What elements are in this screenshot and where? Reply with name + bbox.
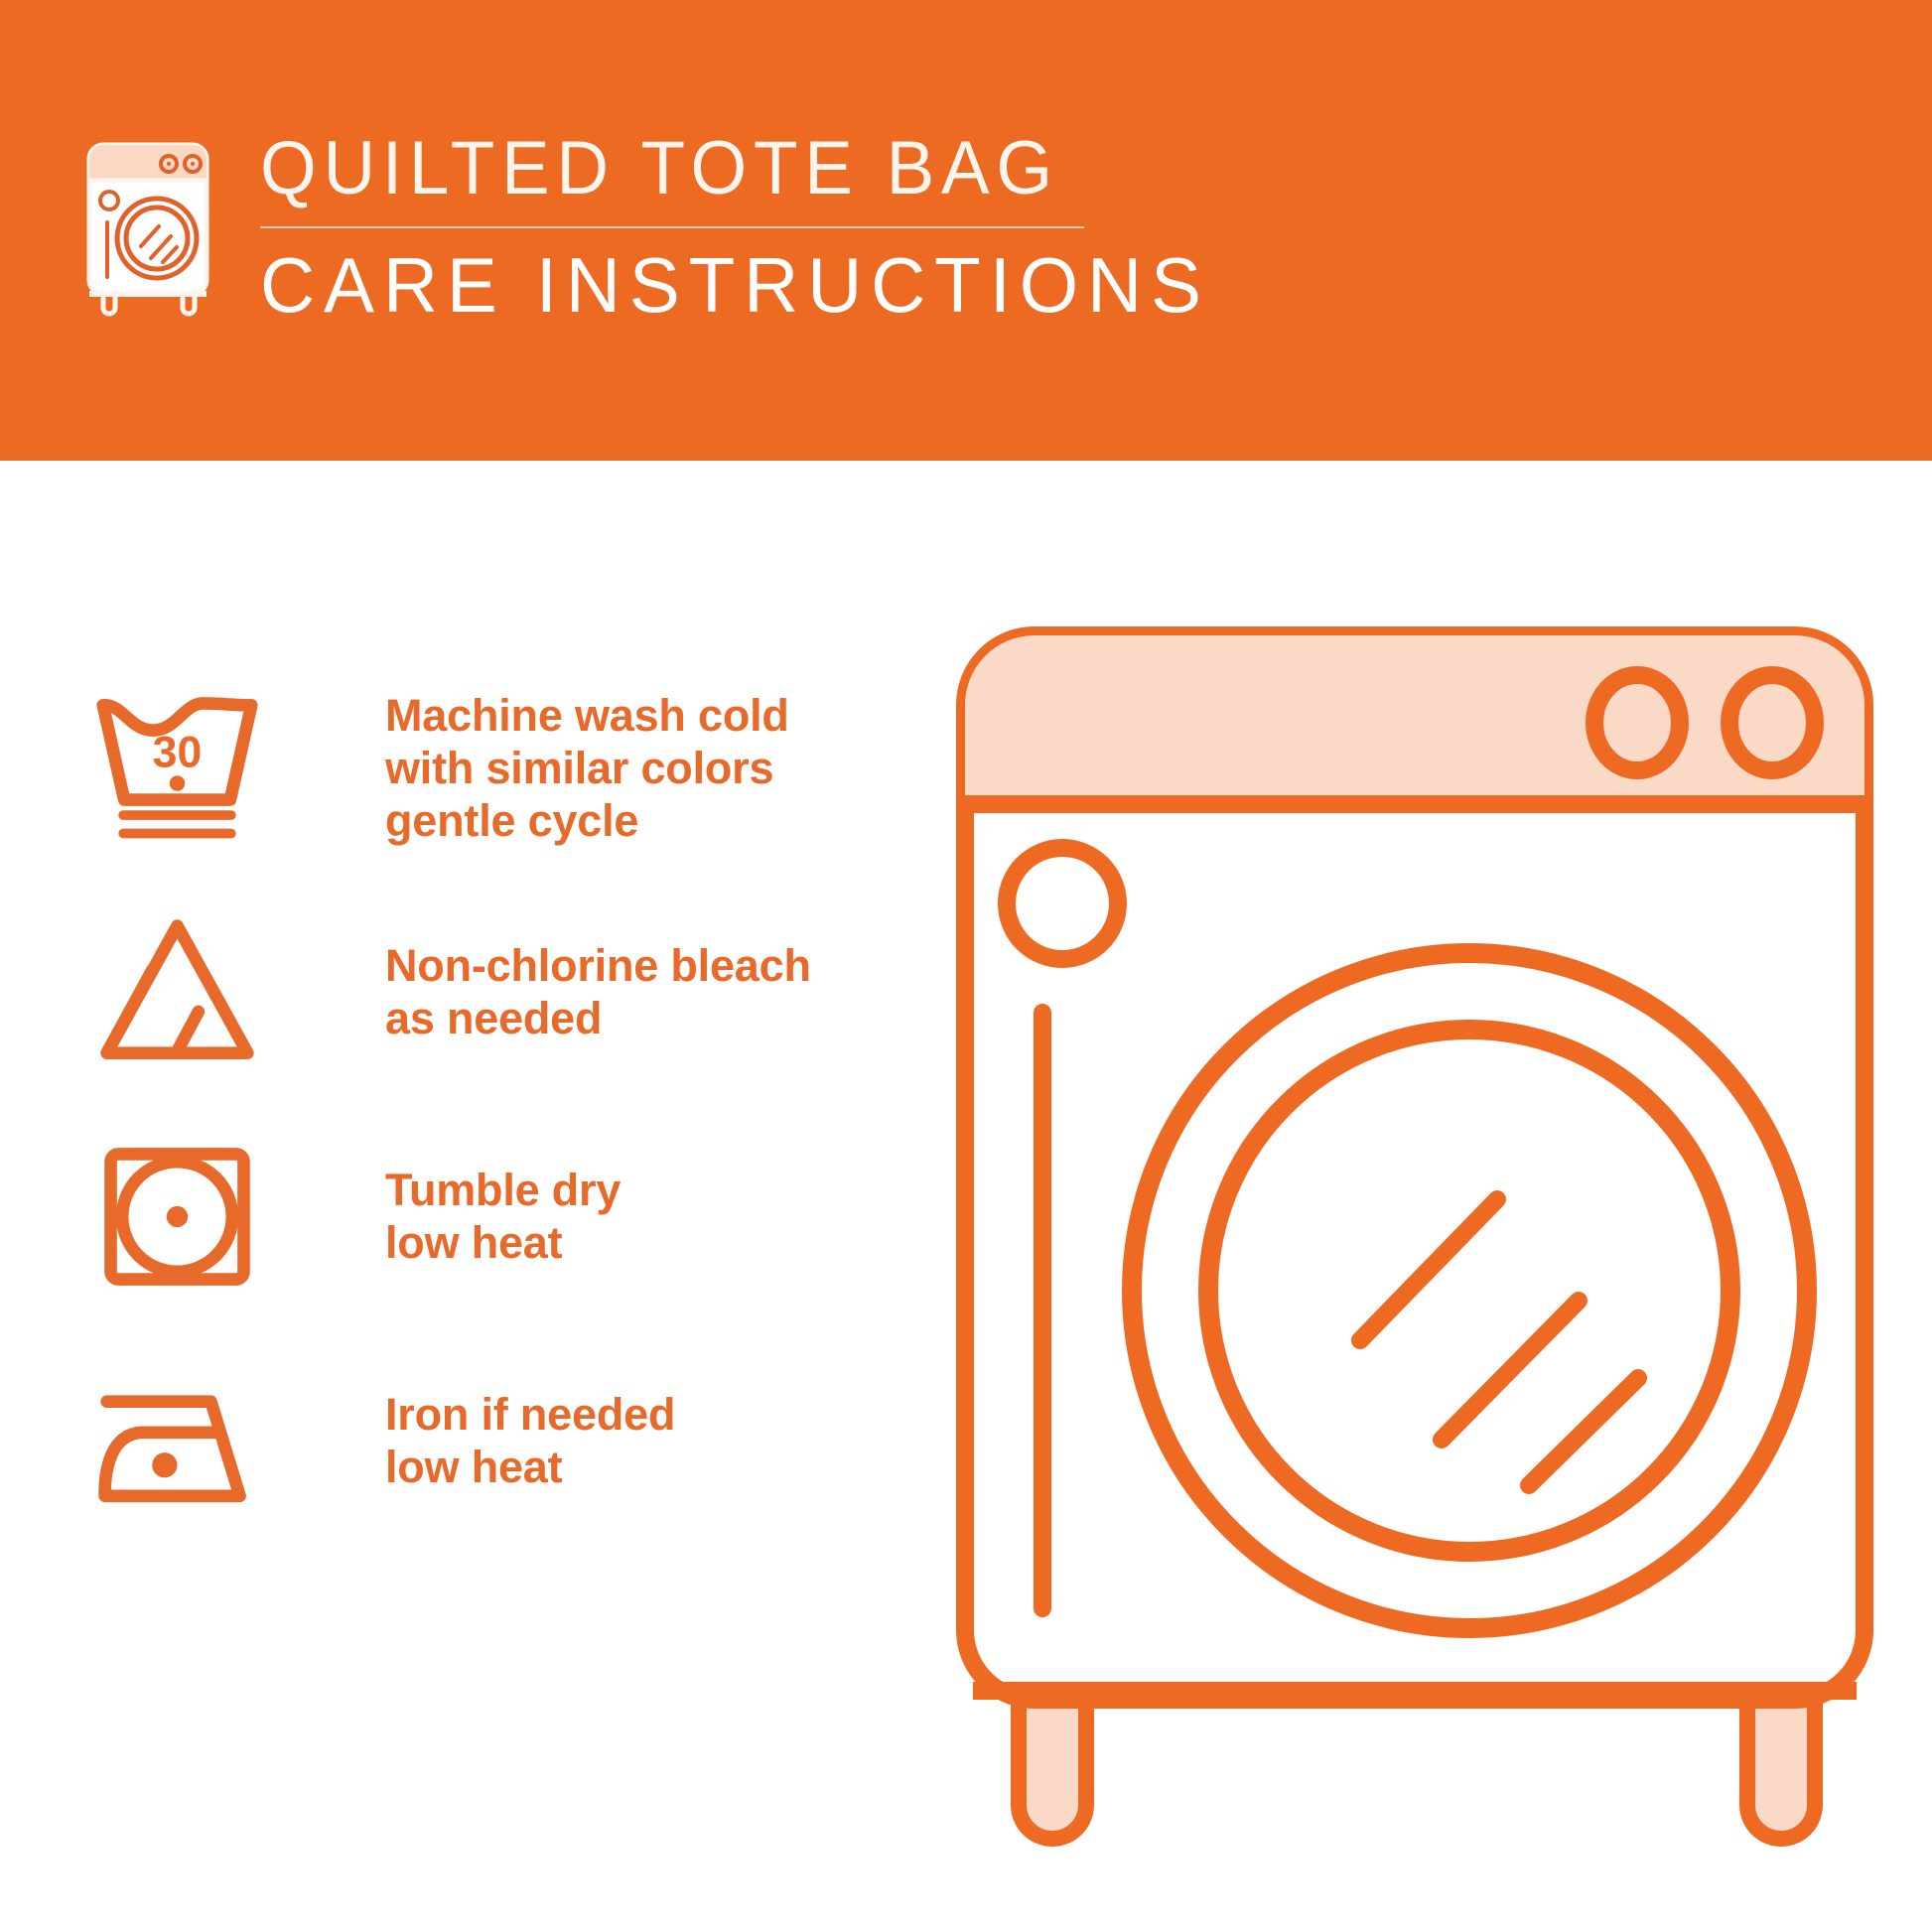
page-title: QUILTED TOTE BAG xyxy=(260,127,1190,210)
care-label-iron: Iron if needed low heat xyxy=(385,1388,675,1493)
wash-heat-dot xyxy=(169,775,185,791)
care-row-tumble-dry: Tumble dry low heat xyxy=(77,1104,892,1328)
care-row-bleach: Non-chlorine bleach as needed xyxy=(77,880,892,1104)
care-row-machine-wash: 30 Machine wash cold with similar colors… xyxy=(77,655,892,880)
machine-wash-tub-icon: 30 xyxy=(77,686,276,850)
non-chlorine-bleach-triangle-icon xyxy=(77,910,276,1074)
header-title-block: QUILTED TOTE BAG CARE INSTRUCTIONS xyxy=(260,127,1229,328)
care-label-machine-wash: Machine wash cold with similar colors ge… xyxy=(385,689,789,847)
washing-machine-illustration xyxy=(953,616,1876,1906)
tumble-heat-dot xyxy=(166,1205,187,1226)
foot-right xyxy=(1747,1696,1815,1839)
knob-left xyxy=(1594,675,1680,770)
page-subtitle: CARE INSTRUCTIONS xyxy=(260,242,1210,328)
foot-left xyxy=(1019,1696,1086,1839)
wash-temperature-value: 30 xyxy=(152,728,202,776)
header-content: QUILTED TOTE BAG CARE INSTRUCTIONS xyxy=(77,127,1229,328)
iron-icon xyxy=(77,1359,276,1523)
page-header: QUILTED TOTE BAG CARE INSTRUCTIONS xyxy=(0,0,1932,461)
gentle-bar-1 xyxy=(118,810,235,820)
tumble-dry-icon xyxy=(77,1135,276,1299)
gentle-bar-2 xyxy=(118,828,235,838)
care-label-bleach: Non-chlorine bleach as needed xyxy=(385,939,811,1044)
title-divider xyxy=(260,226,1084,228)
iron-heat-dot xyxy=(152,1452,177,1477)
care-row-iron: Iron if needed low heat xyxy=(77,1328,892,1553)
care-instruction-list: 30 Machine wash cold with similar colors… xyxy=(77,655,892,1553)
care-label-tumble-dry: Tumble dry low heat xyxy=(385,1164,621,1269)
washing-machine-icon xyxy=(77,135,226,319)
knob-right xyxy=(1729,675,1815,770)
